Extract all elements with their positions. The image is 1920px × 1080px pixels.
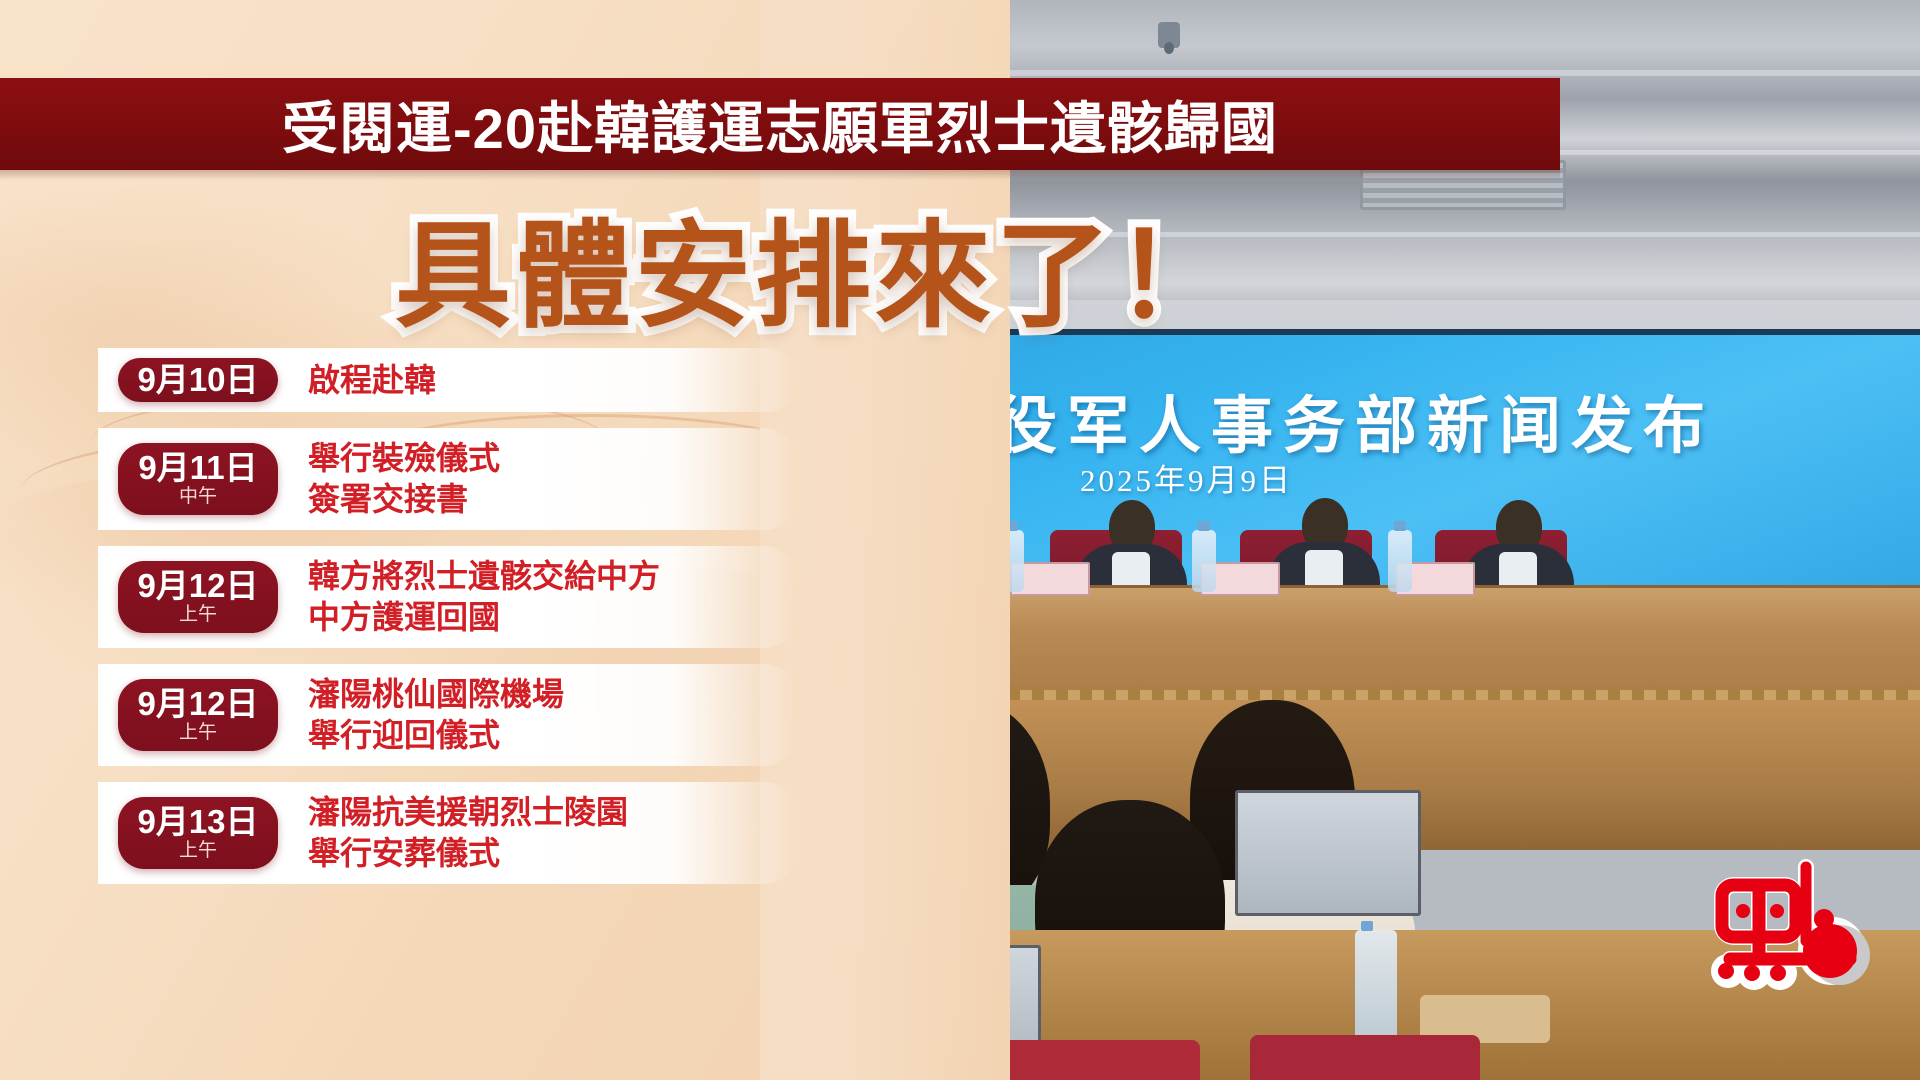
ceiling-strip — [860, 70, 1920, 76]
schedule-date: 9月12日 — [137, 687, 258, 722]
chair-back — [1000, 1040, 1200, 1080]
schedule-row: 9月12日 上午 韓方將烈士遺骸交給中方 中方護運回國 — [98, 546, 798, 648]
schedule-text: 啟程赴韓 — [308, 360, 436, 401]
screen-date: 2025年9月9日 — [1080, 455, 1293, 500]
schedule-time: 上午 — [179, 841, 217, 862]
screen-title: 退役军人事务部新闻发布 — [923, 375, 1920, 465]
schedule-text-line: 舉行安葬儀式 — [308, 833, 628, 874]
schedule-row: 9月11日 中午 舉行裝殮儀式 簽署交接書 — [98, 428, 798, 530]
schedule-date: 9月12日 — [137, 569, 258, 604]
schedule-date-pill: 9月12日 上午 — [118, 561, 278, 633]
schedule-date-pill: 9月12日 上午 — [118, 679, 278, 751]
schedule-text-line: 舉行迎回儀式 — [308, 715, 564, 756]
schedule-date-pill: 9月13日 上午 — [118, 797, 278, 869]
poster-root: 退役军人事务部新闻发布 2025年9月9日 — [0, 0, 1920, 1080]
schedule-text-line: 啟程赴韓 — [308, 362, 436, 398]
chair-back — [1250, 1035, 1480, 1080]
schedule-text-line: 韓方將烈士遺骸交給中方 — [308, 556, 660, 597]
schedule-date-pill: 9月11日 中午 — [118, 443, 278, 515]
schedule-list: 9月10日 啟程赴韓 9月11日 中午 舉行裝殮儀式 簽署交接書 — [98, 348, 798, 900]
schedule-row: 9月13日 上午 瀋陽抗美援朝烈士陵園 舉行安葬儀式 — [98, 782, 798, 884]
schedule-date-pill: 9月10日 — [118, 358, 278, 402]
schedule-row-panel: 9月10日 啟程赴韓 — [98, 348, 798, 412]
band-shadow — [0, 170, 1560, 180]
schedule-row-panel: 9月11日 中午 舉行裝殮儀式 簽署交接書 — [98, 428, 798, 530]
schedule-text-line: 簽署交接書 — [308, 479, 500, 520]
schedule-time: 中午 — [179, 487, 217, 508]
water-bottle — [1192, 530, 1216, 592]
schedule-text: 韓方將烈士遺骸交給中方 中方護運回國 — [308, 556, 660, 638]
schedule-row-panel: 9月13日 上午 瀋陽抗美援朝烈士陵園 舉行安葬儀式 — [98, 782, 798, 884]
schedule-date: 9月13日 — [137, 805, 258, 840]
schedule-row: 9月12日 上午 瀋陽桃仙國際機場 舉行迎回儀式 — [98, 664, 798, 766]
schedule-date: 9月11日 — [138, 451, 257, 486]
schedule-date: 9月10日 — [137, 363, 258, 398]
schedule-text-line: 舉行裝殮儀式 — [308, 438, 500, 479]
schedule-text-line: 中方護運回國 — [308, 597, 660, 638]
schedule-text-line: 瀋陽桃仙國際機場 — [308, 674, 564, 715]
sprinkler-icon — [1158, 22, 1180, 48]
main-headline: 具體安排來了！ — [395, 182, 1235, 350]
water-bottle — [1388, 530, 1412, 592]
schedule-text-line: 瀋陽抗美援朝烈士陵園 — [308, 792, 628, 833]
water-bottle — [1355, 930, 1397, 1045]
schedule-text: 瀋陽抗美援朝烈士陵園 舉行安葬儀式 — [308, 792, 628, 874]
schedule-time: 上午 — [179, 723, 217, 744]
schedule-text: 瀋陽桃仙國際機場 舉行迎回儀式 — [308, 674, 564, 756]
headline-band-title: 受閱運-20赴韓護運志願軍烈士遺骸歸國 — [0, 78, 1560, 170]
schedule-text: 舉行裝殮儀式 簽署交接書 — [308, 438, 500, 520]
schedule-row: 9月10日 啟程赴韓 — [98, 348, 798, 412]
schedule-row-panel: 9月12日 上午 韓方將烈士遺骸交給中方 中方護運回國 — [98, 546, 798, 648]
hk01-logo — [1700, 855, 1905, 995]
laptop — [1235, 790, 1421, 916]
schedule-row-panel: 9月12日 上午 瀋陽桃仙國際機場 舉行迎回儀式 — [98, 664, 798, 766]
schedule-time: 上午 — [179, 605, 217, 626]
